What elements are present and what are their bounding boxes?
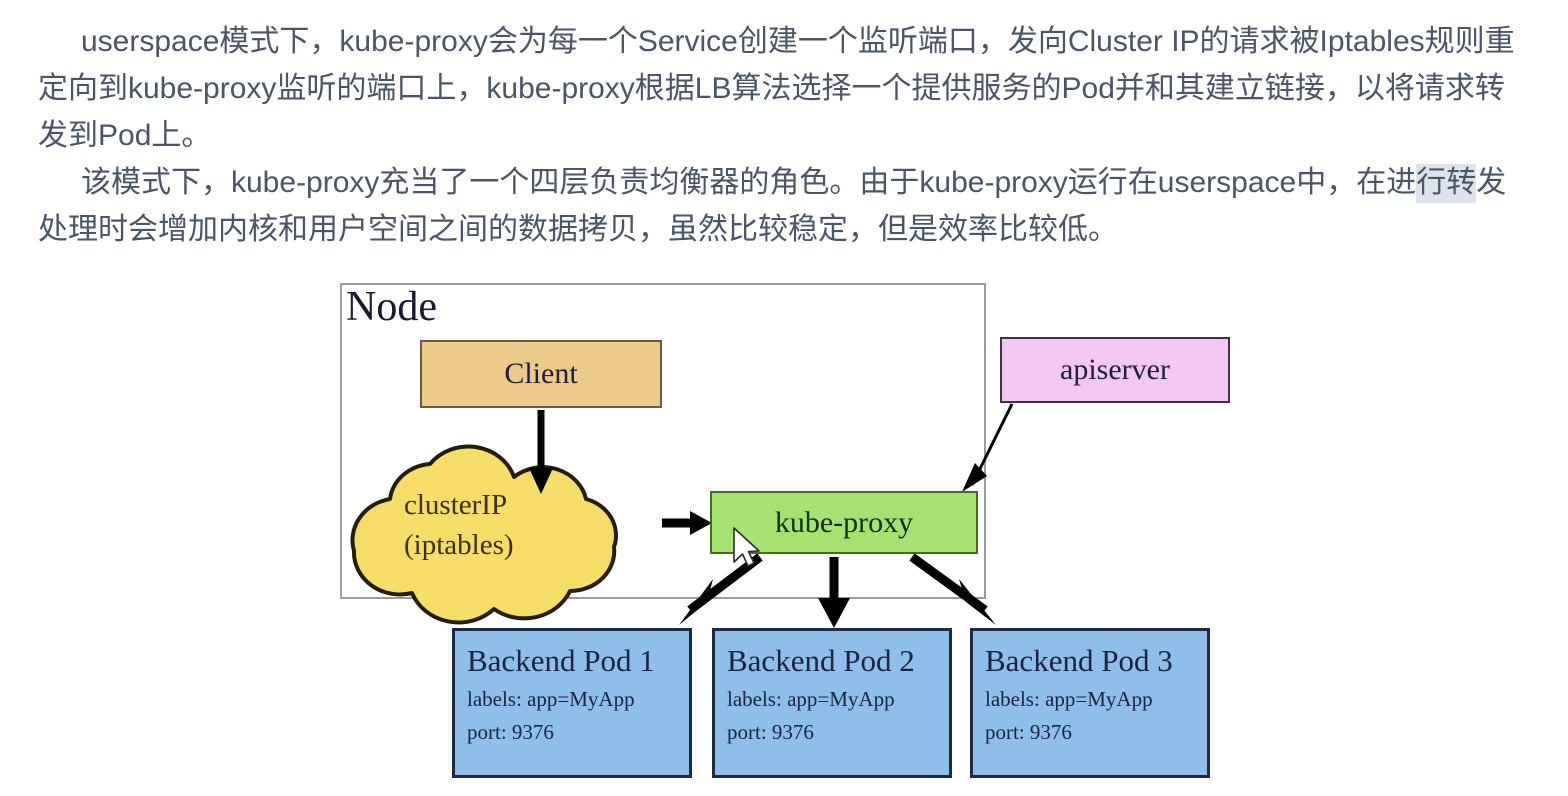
paragraph-1-line-1-text: userspace模式下，kube-proxy会为每一个Service创建一个监… — [81, 25, 1515, 58]
backend-pod-1-labels: labels: app=MyApp — [467, 683, 679, 716]
backend-pod-1-box[interactable]: Backend Pod 1 labels: app=MyApp port: 93… — [452, 628, 692, 778]
paragraph-1-line-3: 发到Pod上。 — [38, 112, 1515, 159]
kube-proxy-box-label: kube-proxy — [775, 506, 913, 540]
kube-proxy-userspace-diagram: Node — [0, 270, 1568, 796]
paragraph-2-line-1-text-after: 发 — [1476, 166, 1506, 199]
backend-pod-3-title: Backend Pod 3 — [985, 639, 1197, 683]
paragraph-2-line-1-text-before: 该模式下，kube-proxy充当了一个四层负责均衡器的角色。由于kube-pr… — [81, 166, 1416, 199]
paragraph-1-line-3-text: 发到Pod上。 — [38, 119, 211, 152]
paragraph-1: userspace模式下，kube-proxy会为每一个Service创建一个监… — [38, 18, 1515, 159]
client-box[interactable]: Client — [420, 340, 662, 408]
text-selection-highlight[interactable]: 行转 — [1416, 164, 1476, 203]
clusterip-cloud-label-line-1: clusterIP — [404, 485, 514, 525]
clusterip-cloud-label: clusterIP (iptables) — [404, 485, 514, 565]
apiserver-box[interactable]: apiserver — [1000, 337, 1230, 403]
backend-pod-2-title: Backend Pod 2 — [727, 639, 939, 683]
kube-proxy-box[interactable]: kube-proxy — [710, 491, 978, 554]
paragraph-2-line-1: 该模式下，kube-proxy充当了一个四层负责均衡器的角色。由于kube-pr… — [38, 159, 1506, 206]
backend-pod-1-title: Backend Pod 1 — [467, 639, 679, 683]
client-box-label: Client — [504, 357, 577, 391]
paragraph-1-line-1: userspace模式下，kube-proxy会为每一个Service创建一个监… — [38, 18, 1515, 65]
backend-pod-2-labels: labels: app=MyApp — [727, 683, 939, 716]
backend-pod-3-labels: labels: app=MyApp — [985, 683, 1197, 716]
backend-pod-3-box[interactable]: Backend Pod 3 labels: app=MyApp port: 93… — [970, 628, 1210, 778]
backend-pod-3-port: port: 9376 — [985, 716, 1197, 749]
backend-pod-2-box[interactable]: Backend Pod 2 labels: app=MyApp port: 93… — [712, 628, 952, 778]
paragraph-2-line-2: 处理时会增加内核和用户空间之间的数据拷贝，虽然比较稳定，但是效率比较低。 — [38, 206, 1506, 253]
apiserver-box-label: apiserver — [1060, 353, 1170, 387]
node-label: Node — [346, 286, 437, 328]
paragraph-2: 该模式下，kube-proxy充当了一个四层负责均衡器的角色。由于kube-pr… — [38, 159, 1506, 253]
backend-pod-1-port: port: 9376 — [467, 716, 679, 749]
backend-pod-2-port: port: 9376 — [727, 716, 939, 749]
paragraph-1-line-2-text: 定向到kube-proxy监听的端口上，kube-proxy根据LB算法选择一个… — [38, 72, 1505, 105]
paragraph-1-line-2: 定向到kube-proxy监听的端口上，kube-proxy根据LB算法选择一个… — [38, 65, 1515, 112]
clusterip-cloud-label-line-2: (iptables) — [404, 525, 514, 565]
paragraph-2-line-2-text: 处理时会增加内核和用户空间之间的数据拷贝，虽然比较稳定，但是效率比较低。 — [38, 213, 1118, 246]
